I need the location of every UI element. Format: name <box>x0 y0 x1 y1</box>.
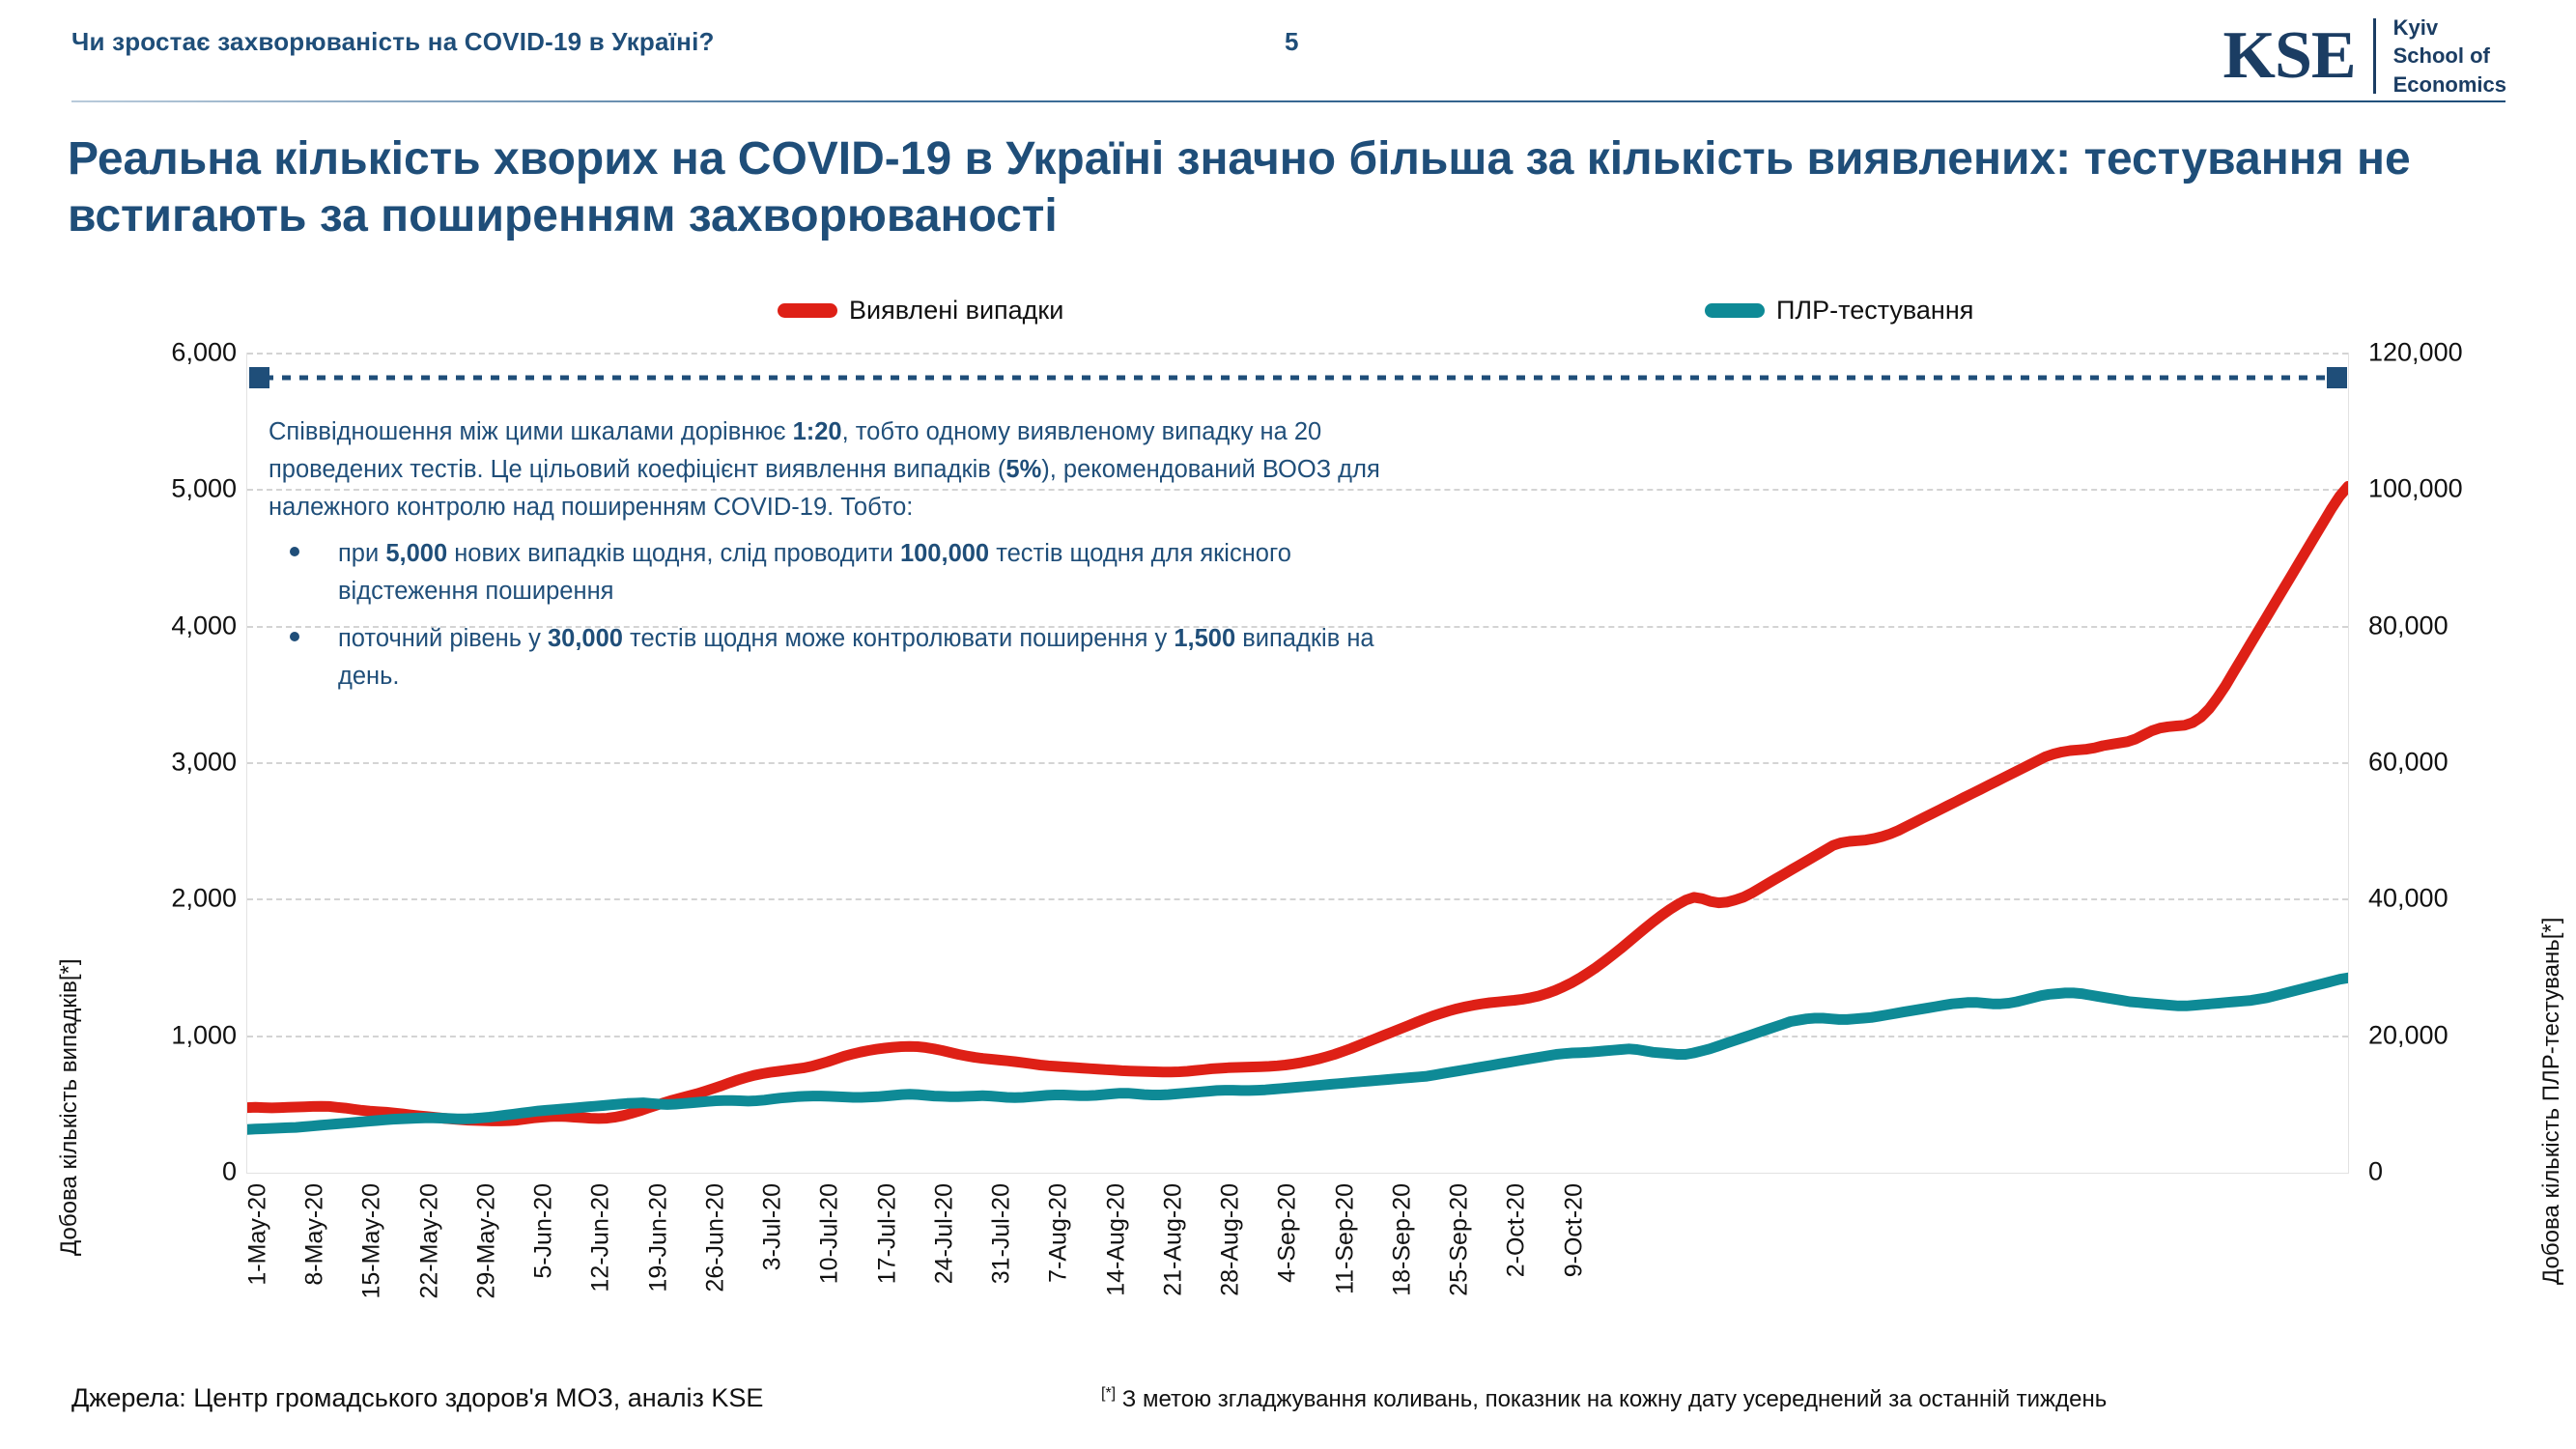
x-tick-label: 25-Sep-20 <box>1446 1183 1474 1296</box>
slide: Чи зростає захворюваність на COVID-19 в … <box>0 0 2576 1449</box>
annotation-bullet-1: при 5,000 нових випадків щодня, слід про… <box>269 535 1408 611</box>
y-axis-left-ticks: 01,0002,0003,0004,0005,0006,000 <box>72 353 237 1174</box>
y-tick-right: 0 <box>2368 1157 2383 1187</box>
y-tick-left: 6,000 <box>171 338 237 368</box>
x-tick-label: 2-Oct-20 <box>1503 1183 1531 1277</box>
scale-ratio-arrow <box>249 367 2347 388</box>
y-axis-left-title: Добова кількість випадків[*] <box>56 958 83 1256</box>
y-tick-left: 3,000 <box>171 748 237 778</box>
logo-line-2: School of <box>2393 42 2506 70</box>
header-divider <box>71 100 2505 102</box>
logo-mark: KSE <box>2223 22 2356 90</box>
x-tick-label: 1-May-20 <box>244 1183 272 1286</box>
x-tick-label: 28-Aug-20 <box>1217 1183 1245 1296</box>
x-tick-label: 8-May-20 <box>301 1183 329 1286</box>
anno-p1a: Співвідношення між цими шкалами дорівнює <box>269 418 793 445</box>
bullet-dot-icon <box>290 632 299 641</box>
legend-swatch-tests <box>1705 303 1765 318</box>
x-tick-label: 17-Jul-20 <box>873 1183 901 1284</box>
y-tick-right: 40,000 <box>2368 884 2449 914</box>
y-tick-left: 0 <box>222 1157 237 1187</box>
x-tick-label: 19-Jun-20 <box>644 1183 672 1293</box>
footnote: [*] З метою згладжування коливань, показ… <box>1101 1385 2107 1413</box>
logo-subtitle: Kyiv School of Economics <box>2393 14 2506 99</box>
x-tick-label: 7-Aug-20 <box>1045 1183 1073 1283</box>
footnote-marker: [*] <box>1101 1385 1116 1402</box>
y-tick-right: 100,000 <box>2368 474 2463 504</box>
b2-tests: 30,000 <box>548 625 623 652</box>
y-tick-left: 5,000 <box>171 474 237 504</box>
x-tick-label: 14-Aug-20 <box>1102 1183 1130 1296</box>
x-tick-label: 21-Aug-20 <box>1159 1183 1187 1296</box>
x-tick-label: 31-Jul-20 <box>988 1183 1016 1284</box>
footnote-text: З метою згладжування коливань, показник … <box>1116 1386 2107 1412</box>
x-tick-label: 26-Jun-20 <box>701 1183 729 1293</box>
x-tick-label: 3-Jul-20 <box>759 1183 787 1270</box>
legend-swatch-cases <box>778 303 837 318</box>
legend-label-cases: Виявлені випадки <box>849 296 1063 326</box>
x-tick-label: 5-Jun-20 <box>530 1183 558 1279</box>
annotation-bullet-2: поточний рівень у 30,000 тестів щодня мо… <box>269 620 1408 696</box>
legend-item-cases: Виявлені випадки <box>778 296 1063 326</box>
b2-cases: 1,500 <box>1174 625 1235 652</box>
y-tick-left: 1,000 <box>171 1020 237 1050</box>
annotation-bullets: при 5,000 нових випадків щодня, слід про… <box>269 535 1408 695</box>
y-tick-right: 120,000 <box>2368 338 2463 368</box>
x-tick-label: 15-May-20 <box>358 1183 386 1299</box>
y-tick-right: 20,000 <box>2368 1020 2449 1050</box>
y-axis-right-ticks: 020,00040,00060,00080,000100,000120,000 <box>2368 353 2533 1174</box>
chart-legend: Виявлені випадки ПЛР-тестування <box>0 290 2576 334</box>
page-number: 5 <box>1285 27 1298 57</box>
logo-line-3: Economics <box>2393 71 2506 99</box>
sources-text: Джерела: Центр громадського здоров'я МОЗ… <box>71 1383 763 1413</box>
b2c: тестів щодня може контролювати поширення… <box>623 625 1174 652</box>
x-tick-label: 29-May-20 <box>472 1183 500 1299</box>
page-title: Реальна кількість хворих на COVID-19 в У… <box>68 131 2511 244</box>
x-tick-label: 11-Sep-20 <box>1331 1183 1359 1294</box>
x-tick-label: 24-Jul-20 <box>930 1183 958 1284</box>
b2a: поточний рівень у <box>338 625 548 652</box>
x-tick-label: 12-Jun-20 <box>587 1183 615 1293</box>
bullet-dot-icon <box>290 547 299 556</box>
b1c: нових випадків щодня, слід проводити <box>447 540 900 567</box>
legend-label-tests: ПЛР-тестування <box>1776 296 1973 326</box>
kse-logo: KSE Kyiv School of Economics <box>2223 14 2506 99</box>
anno-pct: 5% <box>1005 456 1041 483</box>
x-tick-label: 18-Sep-20 <box>1388 1183 1416 1296</box>
x-tick-label: 22-May-20 <box>415 1183 443 1299</box>
breadcrumb: Чи зростає захворюваність на COVID-19 в … <box>71 27 715 57</box>
annotation-paragraph: Співвідношення між цими шкалами дорівнює… <box>269 413 1408 526</box>
series-line-tests <box>247 978 2348 1129</box>
annotation-text: Співвідношення між цими шкалами дорівнює… <box>269 413 1408 695</box>
legend-item-tests: ПЛР-тестування <box>1705 296 1973 326</box>
y-tick-left: 4,000 <box>171 611 237 640</box>
x-axis-tick-labels: 1-May-208-May-2015-May-2022-May-2029-May… <box>246 1183 2349 1357</box>
b1-cases: 5,000 <box>385 540 447 567</box>
y-tick-right: 80,000 <box>2368 611 2449 640</box>
logo-divider <box>2373 18 2376 94</box>
x-tick-label: 9-Oct-20 <box>1560 1183 1588 1277</box>
b1a: при <box>338 540 385 567</box>
y-tick-right: 60,000 <box>2368 748 2449 778</box>
anno-ratio: 1:20 <box>793 418 842 445</box>
x-tick-label: 4-Sep-20 <box>1274 1183 1302 1283</box>
x-tick-label: 10-Jul-20 <box>816 1183 844 1284</box>
y-tick-left: 2,000 <box>171 884 237 914</box>
y-axis-right-title: Добова кількість ПЛР-тестувань[*] <box>2538 918 2565 1285</box>
b1-tests: 100,000 <box>900 540 989 567</box>
logo-line-1: Kyiv <box>2393 14 2506 42</box>
chart: Виявлені випадки ПЛР-тестування 01,0002,… <box>0 290 2576 1352</box>
